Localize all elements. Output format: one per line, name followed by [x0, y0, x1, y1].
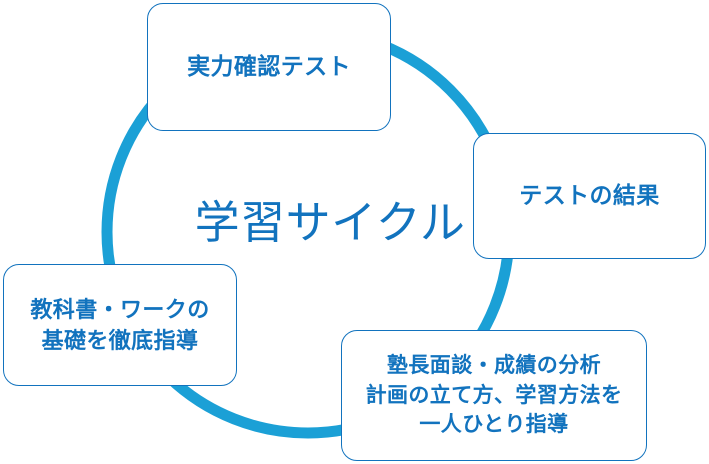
- cycle-node-test[interactable]: 実力確認テスト: [147, 3, 391, 131]
- cycle-node-basics-label: 教科書・ワークの 基礎を徹底指導: [30, 294, 209, 356]
- cycle-node-basics[interactable]: 教科書・ワークの 基礎を徹底指導: [3, 264, 237, 386]
- learning-cycle-diagram: 学習サイクル 実力確認テスト テストの結果 塾長面談・成績の分析 計画の立て方、…: [0, 0, 709, 464]
- cycle-node-result[interactable]: テストの結果: [473, 133, 706, 259]
- page-title: 学習サイクル: [160, 198, 500, 248]
- cycle-node-test-label: 実力確認テスト: [187, 51, 351, 83]
- cycle-node-result-label: テストの結果: [519, 180, 659, 212]
- cycle-node-counseling-label: 塾長面談・成績の分析 計画の立て方、学習方法を 一人ひとり指導: [366, 351, 623, 439]
- cycle-node-counseling[interactable]: 塾長面談・成績の分析 計画の立て方、学習方法を 一人ひとり指導: [341, 330, 647, 461]
